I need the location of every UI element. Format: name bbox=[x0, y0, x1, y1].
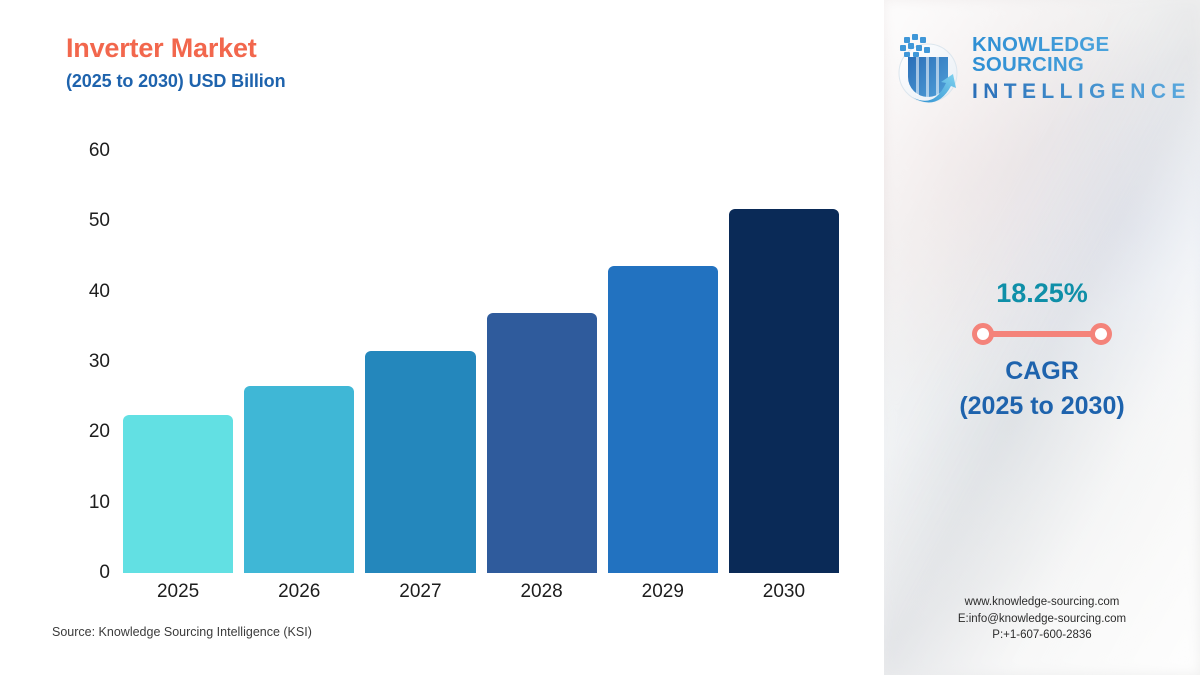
cagr-connector-graphic bbox=[972, 323, 1112, 345]
y-axis-tick-label: 50 bbox=[58, 210, 110, 232]
cagr-label: CAGR bbox=[884, 357, 1200, 386]
bar-item[interactable]: 2026 bbox=[244, 151, 354, 573]
connector-dot-right bbox=[1090, 323, 1112, 345]
connector-line bbox=[982, 331, 1102, 337]
bar-rect[interactable] bbox=[608, 266, 718, 573]
cagr-period: (2025 to 2030) bbox=[884, 392, 1200, 421]
bar-rect[interactable] bbox=[729, 209, 839, 573]
x-axis-tick-label: 2027 bbox=[365, 581, 475, 603]
connector-dot-left bbox=[972, 323, 994, 345]
y-axis-tick-label: 30 bbox=[58, 351, 110, 373]
bar-rect[interactable] bbox=[244, 386, 354, 573]
contact-phone[interactable]: P:+1-607-600-2836 bbox=[884, 627, 1200, 644]
bar-item[interactable]: 2030 bbox=[729, 151, 839, 573]
knowledge-sourcing-logo-icon bbox=[892, 31, 964, 105]
contact-website[interactable]: www.knowledge-sourcing.com bbox=[884, 594, 1200, 611]
x-axis-tick-label: 2030 bbox=[729, 581, 839, 603]
y-axis-tick-label: 20 bbox=[58, 421, 110, 443]
cagr-block: 18.25% CAGR (2025 to 2030) bbox=[884, 278, 1200, 421]
bar-rect[interactable] bbox=[365, 351, 475, 573]
brand-logo: KNOWLEDGE SOURCING INTELLIGENCE bbox=[892, 26, 1192, 110]
bar-series: 202520262027202820292030 bbox=[123, 151, 839, 573]
bar-item[interactable]: 2029 bbox=[608, 151, 718, 573]
x-axis-tick-label: 2025 bbox=[123, 581, 233, 603]
chart-panel: Inverter Market (2025 to 2030) USD Billi… bbox=[0, 0, 884, 675]
bar-rect[interactable] bbox=[487, 313, 597, 573]
bar-item[interactable]: 2025 bbox=[123, 151, 233, 573]
y-axis-tick-label: 60 bbox=[58, 140, 110, 162]
y-axis-tick-label: 40 bbox=[58, 281, 110, 303]
brand-logo-text: KNOWLEDGE SOURCING INTELLIGENCE bbox=[972, 35, 1192, 102]
brand-name-line1: KNOWLEDGE SOURCING bbox=[972, 35, 1192, 76]
y-axis-tick-label: 10 bbox=[58, 492, 110, 514]
cagr-value: 18.25% bbox=[884, 278, 1200, 309]
bar-rect[interactable] bbox=[123, 415, 233, 573]
x-axis-tick-label: 2026 bbox=[244, 581, 354, 603]
y-axis-tick-label: 0 bbox=[58, 562, 110, 584]
bar-chart: 0102030405060 202520262027202820292030 bbox=[0, 0, 884, 675]
x-axis-tick-label: 2028 bbox=[487, 581, 597, 603]
bar-item[interactable]: 2027 bbox=[365, 151, 475, 573]
brand-name-line2: INTELLIGENCE bbox=[972, 81, 1192, 102]
contact-block: www.knowledge-sourcing.com E:info@knowle… bbox=[884, 594, 1200, 644]
source-note: Source: Knowledge Sourcing Intelligence … bbox=[52, 625, 312, 639]
contact-email[interactable]: E:info@knowledge-sourcing.com bbox=[884, 611, 1200, 628]
infographic-slide: Inverter Market (2025 to 2030) USD Billi… bbox=[0, 0, 1200, 675]
bar-item[interactable]: 2028 bbox=[487, 151, 597, 573]
brand-panel: KNOWLEDGE SOURCING INTELLIGENCE 18.25% C… bbox=[884, 0, 1200, 675]
x-axis-tick-label: 2029 bbox=[608, 581, 718, 603]
